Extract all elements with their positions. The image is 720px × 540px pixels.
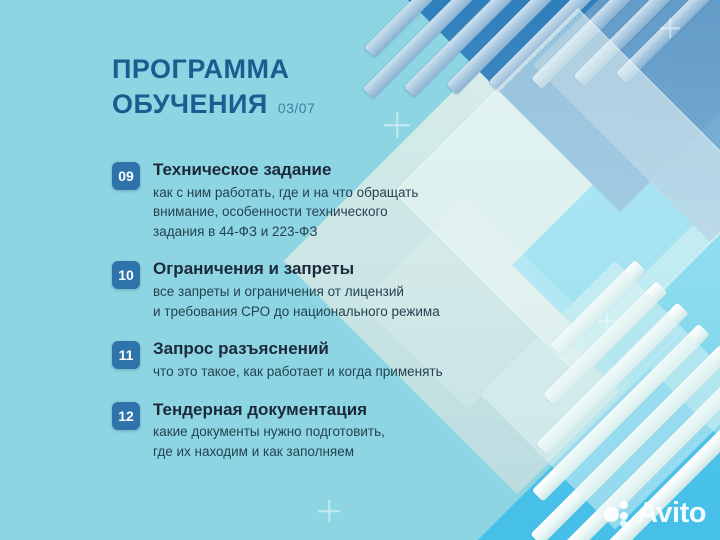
- item-text-block: Техническое заданиекак с ним работать, г…: [153, 160, 418, 241]
- avito-logo-icon: [604, 501, 632, 527]
- item-text-block: Запрос разъясненийчто это такое, как раб…: [153, 339, 443, 381]
- item-number-badge: 10: [112, 261, 140, 289]
- title-line-primary: ПРОГРАММА: [112, 52, 315, 87]
- title-line-secondary: ОБУЧЕНИЯ: [112, 87, 268, 122]
- list-item: 09Техническое заданиекак с ним работать,…: [112, 160, 552, 241]
- item-title: Запрос разъяснений: [153, 339, 443, 360]
- item-description: как с ним работать, где и на что обращат…: [153, 183, 418, 242]
- list-item: 12Тендерная документациякакие документы …: [112, 400, 552, 462]
- title-line-secondary-row: ОБУЧЕНИЯ 03/07: [112, 87, 315, 122]
- item-text-block: Ограничения и запретывсе запреты и огран…: [153, 259, 440, 321]
- item-title: Техническое задание: [153, 160, 418, 181]
- avito-watermark: Avito: [604, 499, 706, 528]
- avito-wordmark: Avito: [637, 499, 706, 528]
- item-title: Ограничения и запреты: [153, 259, 440, 280]
- item-number-badge: 12: [112, 402, 140, 430]
- list-item: 10Ограничения и запретывсе запреты и огр…: [112, 259, 552, 321]
- item-number-badge: 11: [112, 341, 140, 369]
- program-list: 09Техническое заданиекак с ним работать,…: [112, 160, 552, 479]
- item-title: Тендерная документация: [153, 400, 385, 421]
- item-description: что это такое, как работает и когда прим…: [153, 362, 443, 382]
- list-item: 11Запрос разъясненийчто это такое, как р…: [112, 339, 552, 381]
- item-description: какие документы нужно подготовить, где и…: [153, 422, 385, 461]
- item-number-badge: 09: [112, 162, 140, 190]
- item-description: все запреты и ограничения от лицензий и …: [153, 282, 440, 321]
- slide-counter: 03/07: [278, 100, 316, 116]
- poster-content: ПРОГРАММА ОБУЧЕНИЯ 03/07 09Техническое з…: [0, 0, 720, 540]
- item-text-block: Тендерная документациякакие документы ну…: [153, 400, 385, 462]
- poster-canvas: ПРОГРАММА ОБУЧЕНИЯ 03/07 09Техническое з…: [0, 0, 720, 540]
- page-title: ПРОГРАММА ОБУЧЕНИЯ 03/07: [112, 52, 315, 121]
